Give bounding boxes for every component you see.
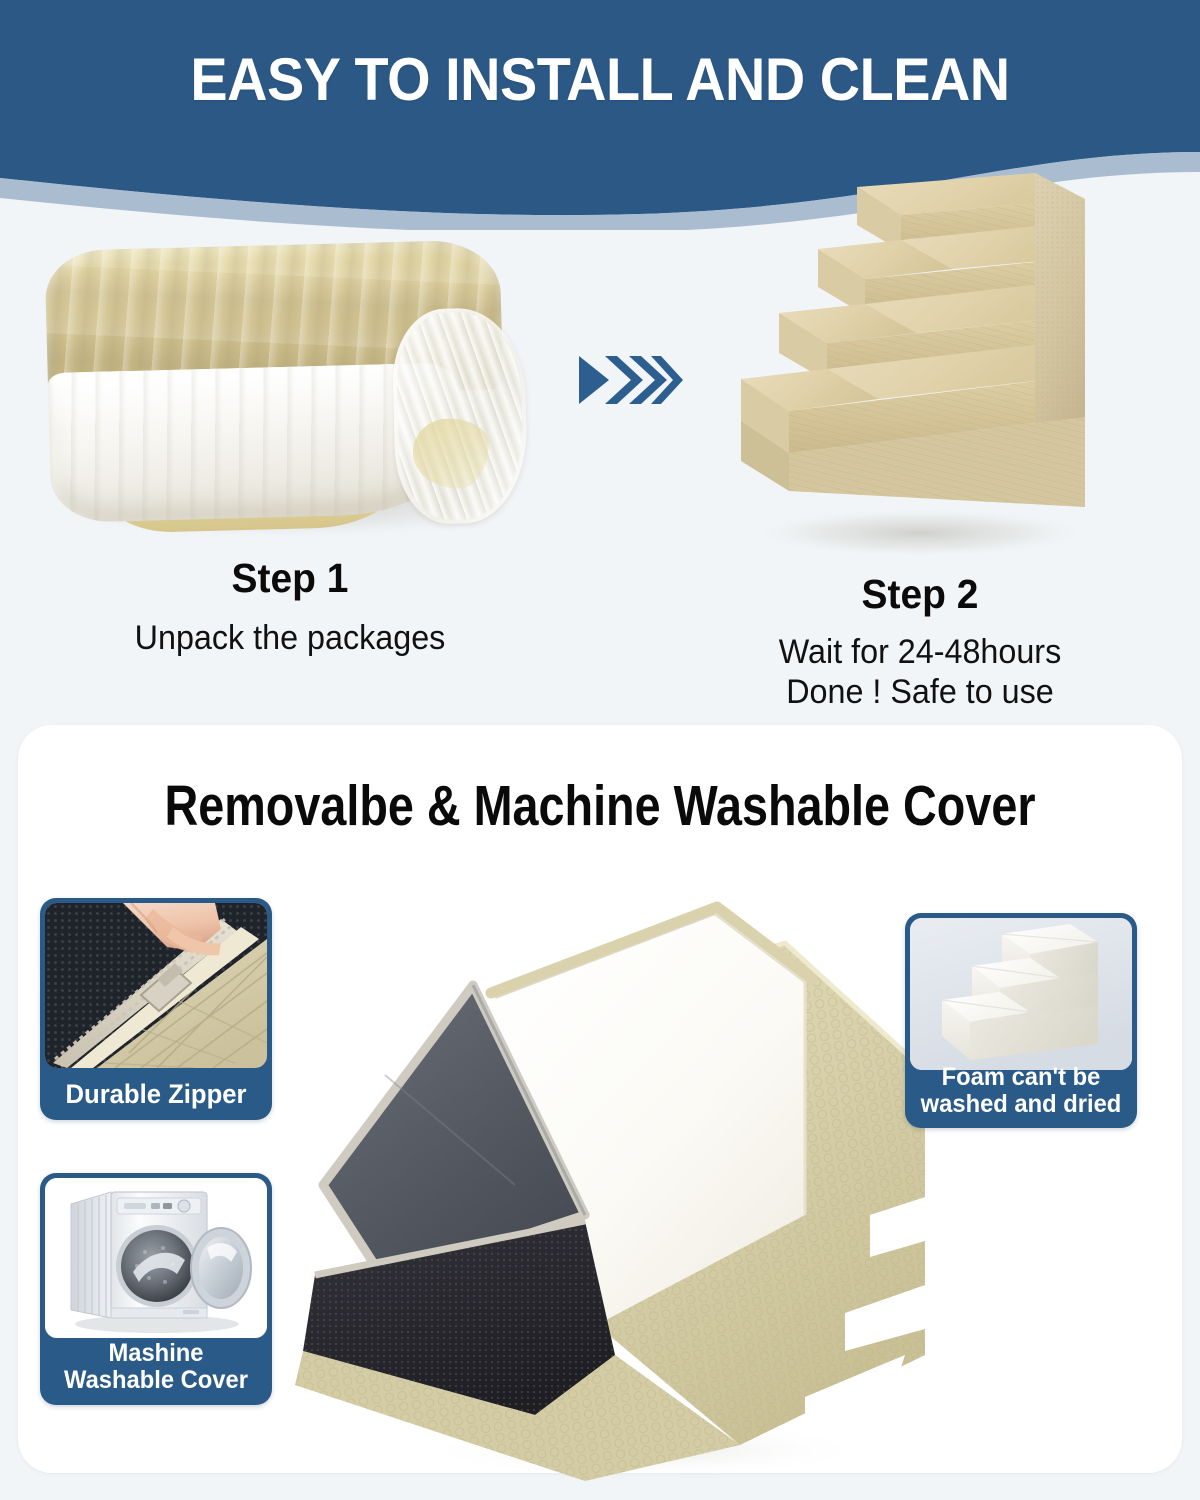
steps-section: Step 1 Unpack the packages	[0, 225, 1200, 720]
badge-zipper-label: Durable Zipper	[46, 1080, 266, 1109]
page-title: EASY TO INSTALL AND CLEAN	[42, 45, 1158, 114]
card-title: Removalbe & Machine Washable Cover	[123, 773, 1077, 839]
expanded-pet-stairs-photo	[705, 165, 1135, 565]
step-1-title: Step 1	[24, 555, 556, 602]
hand-pulling-zipper-photo	[45, 903, 267, 1068]
badge-foam-label: Foam can't be washed and dried	[911, 1064, 1131, 1118]
step-2-column: Step 2 Wait for 24-48hours Done ! Safe t…	[640, 165, 1200, 712]
badge-foam-not-washable[interactable]: Foam can't be washed and dried	[905, 913, 1137, 1128]
washer-open-door	[191, 1228, 251, 1308]
pet-stairs-cover-peeled-back-photo	[285, 885, 925, 1485]
front-load-washing-machine-photo	[45, 1178, 267, 1338]
pack-body	[44, 239, 521, 526]
badge-washer-label: Mashine Washable Cover	[46, 1340, 266, 1394]
step-1-column: Step 1 Unpack the packages	[10, 225, 570, 658]
badge-durable-zipper[interactable]: Durable Zipper	[40, 898, 272, 1120]
white-foam-stairs-photo	[910, 918, 1132, 1070]
step-2-title: Step 2	[654, 571, 1186, 618]
vacuum-packed-roll-photo	[40, 225, 540, 555]
pack-plastic-end	[391, 307, 529, 525]
step-2-subtitle: Wait for 24-48hours Done ! Safe to use	[654, 632, 1186, 712]
step-1-subtitle: Unpack the packages	[24, 618, 556, 658]
badge-machine-washable[interactable]: Mashine Washable Cover	[40, 1173, 272, 1405]
triple-chevron-right-icon	[575, 350, 685, 410]
